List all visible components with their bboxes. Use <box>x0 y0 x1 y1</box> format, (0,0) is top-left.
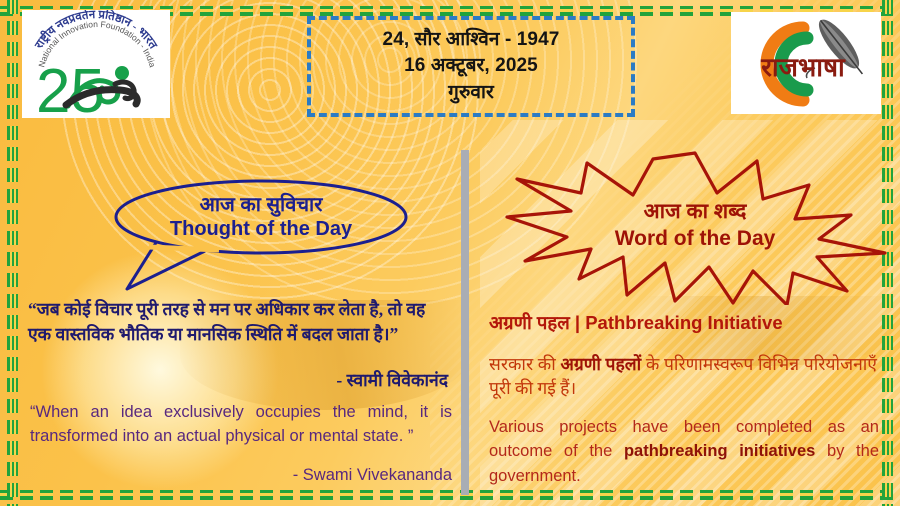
word-of-the-day-starburst: आज का शब्द Word of the Day <box>495 145 895 305</box>
date-line-weekday: गुरुवार <box>448 81 494 105</box>
rajbhasha-logo: राजभाषा <box>731 12 881 114</box>
svg-text:राजभाषा: राजभाषा <box>760 53 846 82</box>
word-separator: | <box>570 312 585 333</box>
example-sentence-hindi: सरकार की अग्रणी पहलों के परिणामस्वरूप वि… <box>489 352 877 400</box>
quote-english: “When an idea exclusively occupies the m… <box>30 400 452 449</box>
frame-border-bottom <box>0 490 900 500</box>
date-line-saur: 24, सौर आश्विन - 1947 <box>383 28 560 52</box>
quote-hindi-attribution: - स्वामी विवेकानंद <box>28 368 448 392</box>
example-hindi-highlight: अग्रणी पहलों <box>560 354 641 374</box>
word-of-the-day-heading: अग्रणी पहल | Pathbreaking Initiative <box>489 310 783 335</box>
svg-text:25: 25 <box>36 57 105 118</box>
quote-english-attribution: - Swami Vivekananda <box>30 466 452 485</box>
column-divider <box>461 150 469 495</box>
date-box: 24, सौर आश्विन - 1947 16 अक्टूबर, 2025 ग… <box>307 16 635 117</box>
poster-root: राष्ट्रीय नवप्रवर्तन प्रतिष्ठान - भारत N… <box>0 0 900 506</box>
quote-hindi: “जब कोई विचार पूरी तरह से मन पर अधिकार क… <box>28 297 448 347</box>
frame-border-left <box>7 0 18 506</box>
example-english-highlight: pathbreaking initiatives <box>624 442 815 460</box>
example-sentence-english: Various projects have been completed as … <box>489 415 879 488</box>
date-line-gregorian: 16 अक्टूबर, 2025 <box>404 54 538 78</box>
example-hindi-pre: सरकार की <box>489 354 560 374</box>
national-innovation-foundation-logo: राष्ट्रीय नवप्रवर्तन प्रतिष्ठान - भारत N… <box>22 10 170 118</box>
word-english: Pathbreaking Initiative <box>585 312 782 333</box>
thought-of-the-day-bubble: आज का सुविचार Thought of the Day <box>113 181 409 253</box>
word-hindi: अग्रणी पहल <box>489 312 570 333</box>
